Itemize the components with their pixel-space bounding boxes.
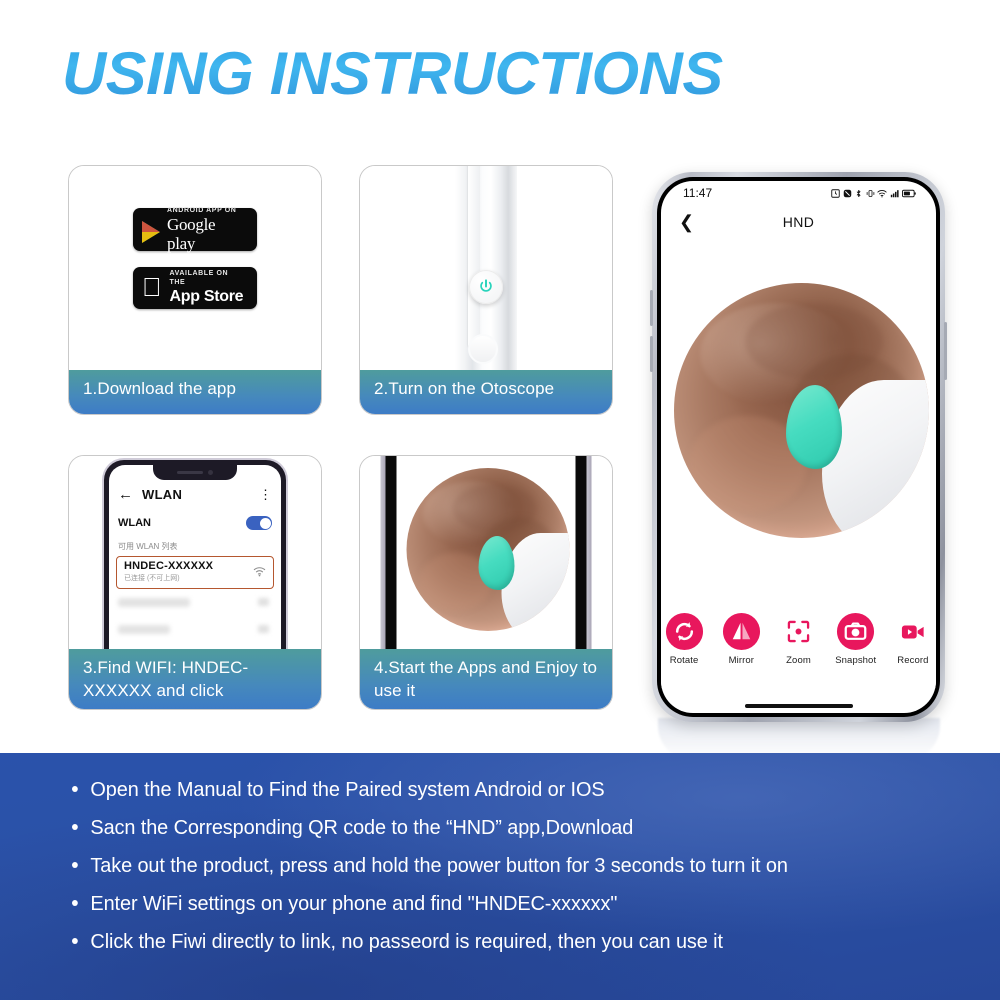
phone-notch — [153, 465, 237, 480]
instructions-panel: Open the Manual to Find the Paired syste… — [0, 753, 1000, 1000]
bluetooth-icon — [854, 189, 863, 198]
record-button[interactable]: Record — [890, 612, 936, 666]
power-button[interactable] — [469, 270, 503, 304]
instruction-item: Take out the product, press and hold the… — [72, 853, 939, 878]
instructions-list: Open the Manual to Find the Paired syste… — [72, 777, 966, 954]
back-arrow-icon[interactable]: ← — [118, 487, 133, 502]
wifi-status: 已连接 (不可上网) — [124, 573, 266, 583]
step-card-3: ← WLAN ⋮ WLAN 可用 WLAN 列表 HNDEC-XXXXXX 已连… — [68, 455, 322, 710]
instruction-item: Sacn the Corresponding QR code to the “H… — [72, 815, 939, 840]
step-2-caption: 2.Turn on the Otoscope — [360, 370, 612, 414]
instruction-item: Enter WiFi settings on your phone and fi… — [72, 891, 939, 916]
earpiece-speaker — [177, 471, 203, 474]
bullet-dot-icon — [72, 786, 78, 792]
signal-icon — [890, 189, 900, 198]
zoom-button[interactable]: Zoom — [775, 612, 821, 666]
rotate-icon — [665, 612, 704, 651]
wifi-list-placeholder-1 — [118, 598, 190, 607]
bullet-dot-icon — [72, 824, 78, 830]
control-bar: Rotate Mirror — [661, 607, 936, 689]
wlan-app-bar: ← WLAN ⋮ — [109, 480, 281, 508]
wlan-list-header: 可用 WLAN 列表 — [118, 541, 178, 552]
frame-edge-left — [381, 456, 386, 651]
mirror-label: Mirror — [729, 655, 754, 666]
instruction-item: Click the Fiwi directly to link, no pass… — [72, 929, 939, 954]
wlan-toggle-switch[interactable] — [246, 516, 272, 530]
app-store-badge-small: Available on the — [170, 269, 246, 287]
snapshot-label: Snapshot — [835, 655, 876, 666]
instruction-item: Open the Manual to Find the Paired syste… — [72, 777, 939, 802]
frame-edge-right — [587, 456, 592, 651]
wifi-icon — [253, 566, 266, 577]
battery-icon — [902, 189, 916, 198]
otoscope-device — [455, 166, 517, 372]
phone-mockup: 11:47 — [652, 172, 945, 722]
volume-up-button[interactable] — [650, 290, 653, 326]
instruction-text: Click the Fiwi directly to link, no pass… — [90, 929, 722, 954]
mirror-icon — [722, 612, 761, 651]
step-card-2: 2.Turn on the Otoscope — [359, 165, 613, 415]
step-card-4: 4.Start the Apps and Enjoy to use it — [359, 455, 613, 710]
instruction-text: Sacn the Corresponding QR code to the “H… — [90, 815, 633, 840]
rotate-button[interactable]: Rotate — [661, 612, 707, 666]
overflow-menu-icon[interactable]: ⋮ — [259, 488, 272, 501]
apple-logo-icon:  — [142, 274, 162, 300]
ear-canal-live-image — [674, 283, 929, 538]
google-play-triangle-icon — [142, 221, 160, 242]
wlan-phone-mockup: ← WLAN ⋮ WLAN 可用 WLAN 列表 HNDEC-XXXXXX 已连… — [104, 460, 286, 651]
step-3-caption: 3.Find WIFI: HNDEC-XXXXXX and click — [69, 649, 321, 709]
page-title: USING INSTRUCTIONS — [62, 34, 837, 114]
phone-power-button[interactable] — [944, 322, 947, 380]
otoscope-tip — [786, 385, 842, 469]
google-play-badge[interactable]: ANDROID APP ON Google play — [133, 208, 257, 251]
step-4-caption: 4.Start the Apps and Enjoy to use it — [360, 649, 612, 709]
store-badges: ANDROID APP ON Google play  Available o… — [69, 208, 321, 309]
app-store-badge-large: App Store — [170, 287, 246, 306]
bullet-dot-icon — [72, 862, 78, 868]
wifi-icon — [877, 189, 887, 198]
instruction-text: Enter WiFi settings on your phone and fi… — [90, 891, 617, 916]
app-store-badge[interactable]:  Available on the App Store — [133, 267, 257, 309]
bullet-dot-icon — [72, 938, 78, 944]
step-2-media — [360, 166, 612, 372]
step-1-caption: 1.Download the app — [69, 370, 321, 414]
google-play-badge-small: ANDROID APP ON — [167, 206, 245, 215]
front-camera — [208, 470, 213, 475]
wifi-list-placeholder-icon-2 — [258, 625, 269, 633]
instruction-text: Open the Manual to Find the Paired syste… — [90, 777, 604, 802]
wifi-network-hndec[interactable]: HNDEC-XXXXXX 已连接 (不可上网) — [116, 556, 274, 589]
wlan-title: WLAN — [142, 487, 182, 502]
camera-icon — [836, 612, 875, 651]
alarm-icon — [831, 189, 840, 198]
instruction-text: Take out the product, press and hold the… — [90, 853, 787, 878]
frame-letterbox-right — [576, 456, 587, 651]
wifi-list-placeholder-icon-1 — [258, 598, 269, 606]
bullet-dot-icon — [72, 900, 78, 906]
status-time: 11:47 — [683, 186, 712, 200]
snapshot-button[interactable]: Snapshot — [833, 612, 879, 666]
status-icons — [831, 189, 916, 198]
rotate-label: Rotate — [670, 655, 699, 666]
step-4-media — [360, 456, 612, 651]
step-3-media: ← WLAN ⋮ WLAN 可用 WLAN 列表 HNDEC-XXXXXX 已连… — [69, 456, 321, 651]
ear-canal-image — [407, 468, 570, 631]
record-label: Record — [897, 655, 928, 666]
step-card-1: ANDROID APP ON Google play  Available o… — [68, 165, 322, 415]
wlan-toggle-row[interactable]: WLAN — [109, 510, 281, 536]
frame-letterbox-left — [386, 456, 397, 651]
mute-icon — [843, 189, 852, 198]
vibrate-icon — [866, 189, 875, 198]
record-icon — [901, 612, 925, 651]
app-bar: ❮ HND — [661, 205, 936, 239]
zoom-label: Zoom — [786, 655, 811, 666]
google-play-badge-large: Google play — [167, 215, 245, 253]
step-1-media: ANDROID APP ON Google play  Available o… — [69, 166, 321, 372]
wifi-ssid: HNDEC-XXXXXX — [124, 560, 266, 572]
zoom-icon — [787, 612, 811, 651]
mirror-button[interactable]: Mirror — [718, 612, 764, 666]
app-title: HND — [661, 214, 936, 230]
home-indicator — [745, 704, 853, 708]
volume-down-button[interactable] — [650, 336, 653, 372]
wifi-list-placeholder-2 — [118, 625, 170, 634]
power-icon — [477, 278, 495, 296]
otoscope-tip — [478, 536, 514, 590]
otoscope-live-view[interactable] — [661, 239, 936, 607]
ear-preview-frame — [399, 456, 574, 651]
status-bar: 11:47 — [661, 181, 936, 205]
wlan-toggle-label: WLAN — [118, 517, 151, 529]
